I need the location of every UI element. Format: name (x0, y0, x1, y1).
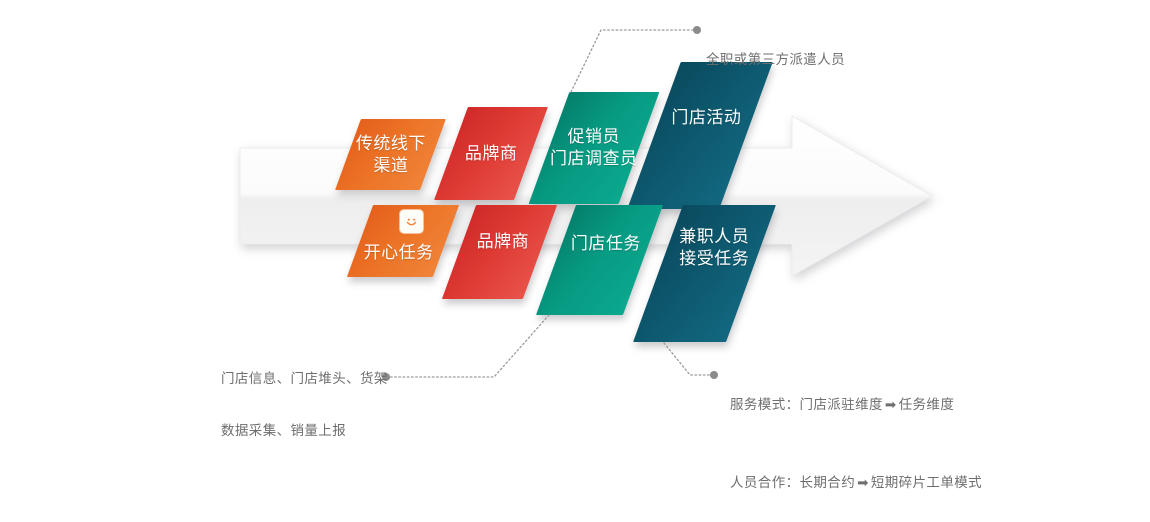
cooperation-prefix: 人员合作： (730, 475, 800, 490)
annotation-line: 全职或第三方派遣人员 (706, 47, 845, 73)
service-prefix: 服务模式： (730, 397, 800, 412)
leader-dot-staffing (693, 26, 701, 34)
leader-dot-service-model (710, 371, 718, 379)
annotation-line: 数据采集、销量上报 (221, 418, 388, 444)
leader-line-service-model (664, 343, 712, 375)
annotation-line: 门店信息、门店堆头、货架 (221, 366, 388, 392)
cooperation-to: 短期碎片工单模式 (871, 475, 982, 490)
diagram-canvas: 传统线下 渠道 品牌商 促销员 门店调查员 门店活动 开心任务 品牌商 门店任务… (0, 0, 1150, 430)
smiley-glyph (403, 213, 420, 230)
service-to: 任务维度 (899, 397, 955, 412)
step-label: 品牌商 (477, 231, 530, 253)
step-label: 品牌商 (465, 143, 518, 165)
step-label: 促销员 门店调查员 (550, 126, 638, 170)
step-label: 开心任务 (364, 242, 434, 264)
right-arrow-icon: ➡ (883, 397, 899, 412)
annotation-data-collection: 门店信息、门店堆头、货架 数据采集、销量上报 (221, 340, 388, 470)
annotation-line-cooperation: 人员合作：长期合约➡短期碎片工单模式 (730, 444, 982, 496)
annotation-service-model: 服务模式：门店派驻维度➡任务维度 人员合作：长期合约➡短期碎片工单模式 (730, 340, 982, 522)
leader-line-data-collection (390, 315, 549, 377)
step-label: 传统线下 渠道 (356, 133, 426, 177)
annotation-staffing-top: 全职或第三方派遣人员 (706, 21, 845, 99)
step-label: 门店活动 (672, 107, 742, 129)
step-label: 门店任务 (570, 233, 640, 255)
smiley-face-icon (400, 210, 423, 233)
step-label: 兼职人员 接受任务 (679, 226, 749, 270)
service-from: 门店派驻维度 (800, 397, 883, 412)
cooperation-from: 长期合约 (800, 475, 856, 490)
annotation-line-service: 服务模式：门店派驻维度➡任务维度 (730, 366, 982, 418)
right-arrow-icon: ➡ (855, 475, 871, 490)
